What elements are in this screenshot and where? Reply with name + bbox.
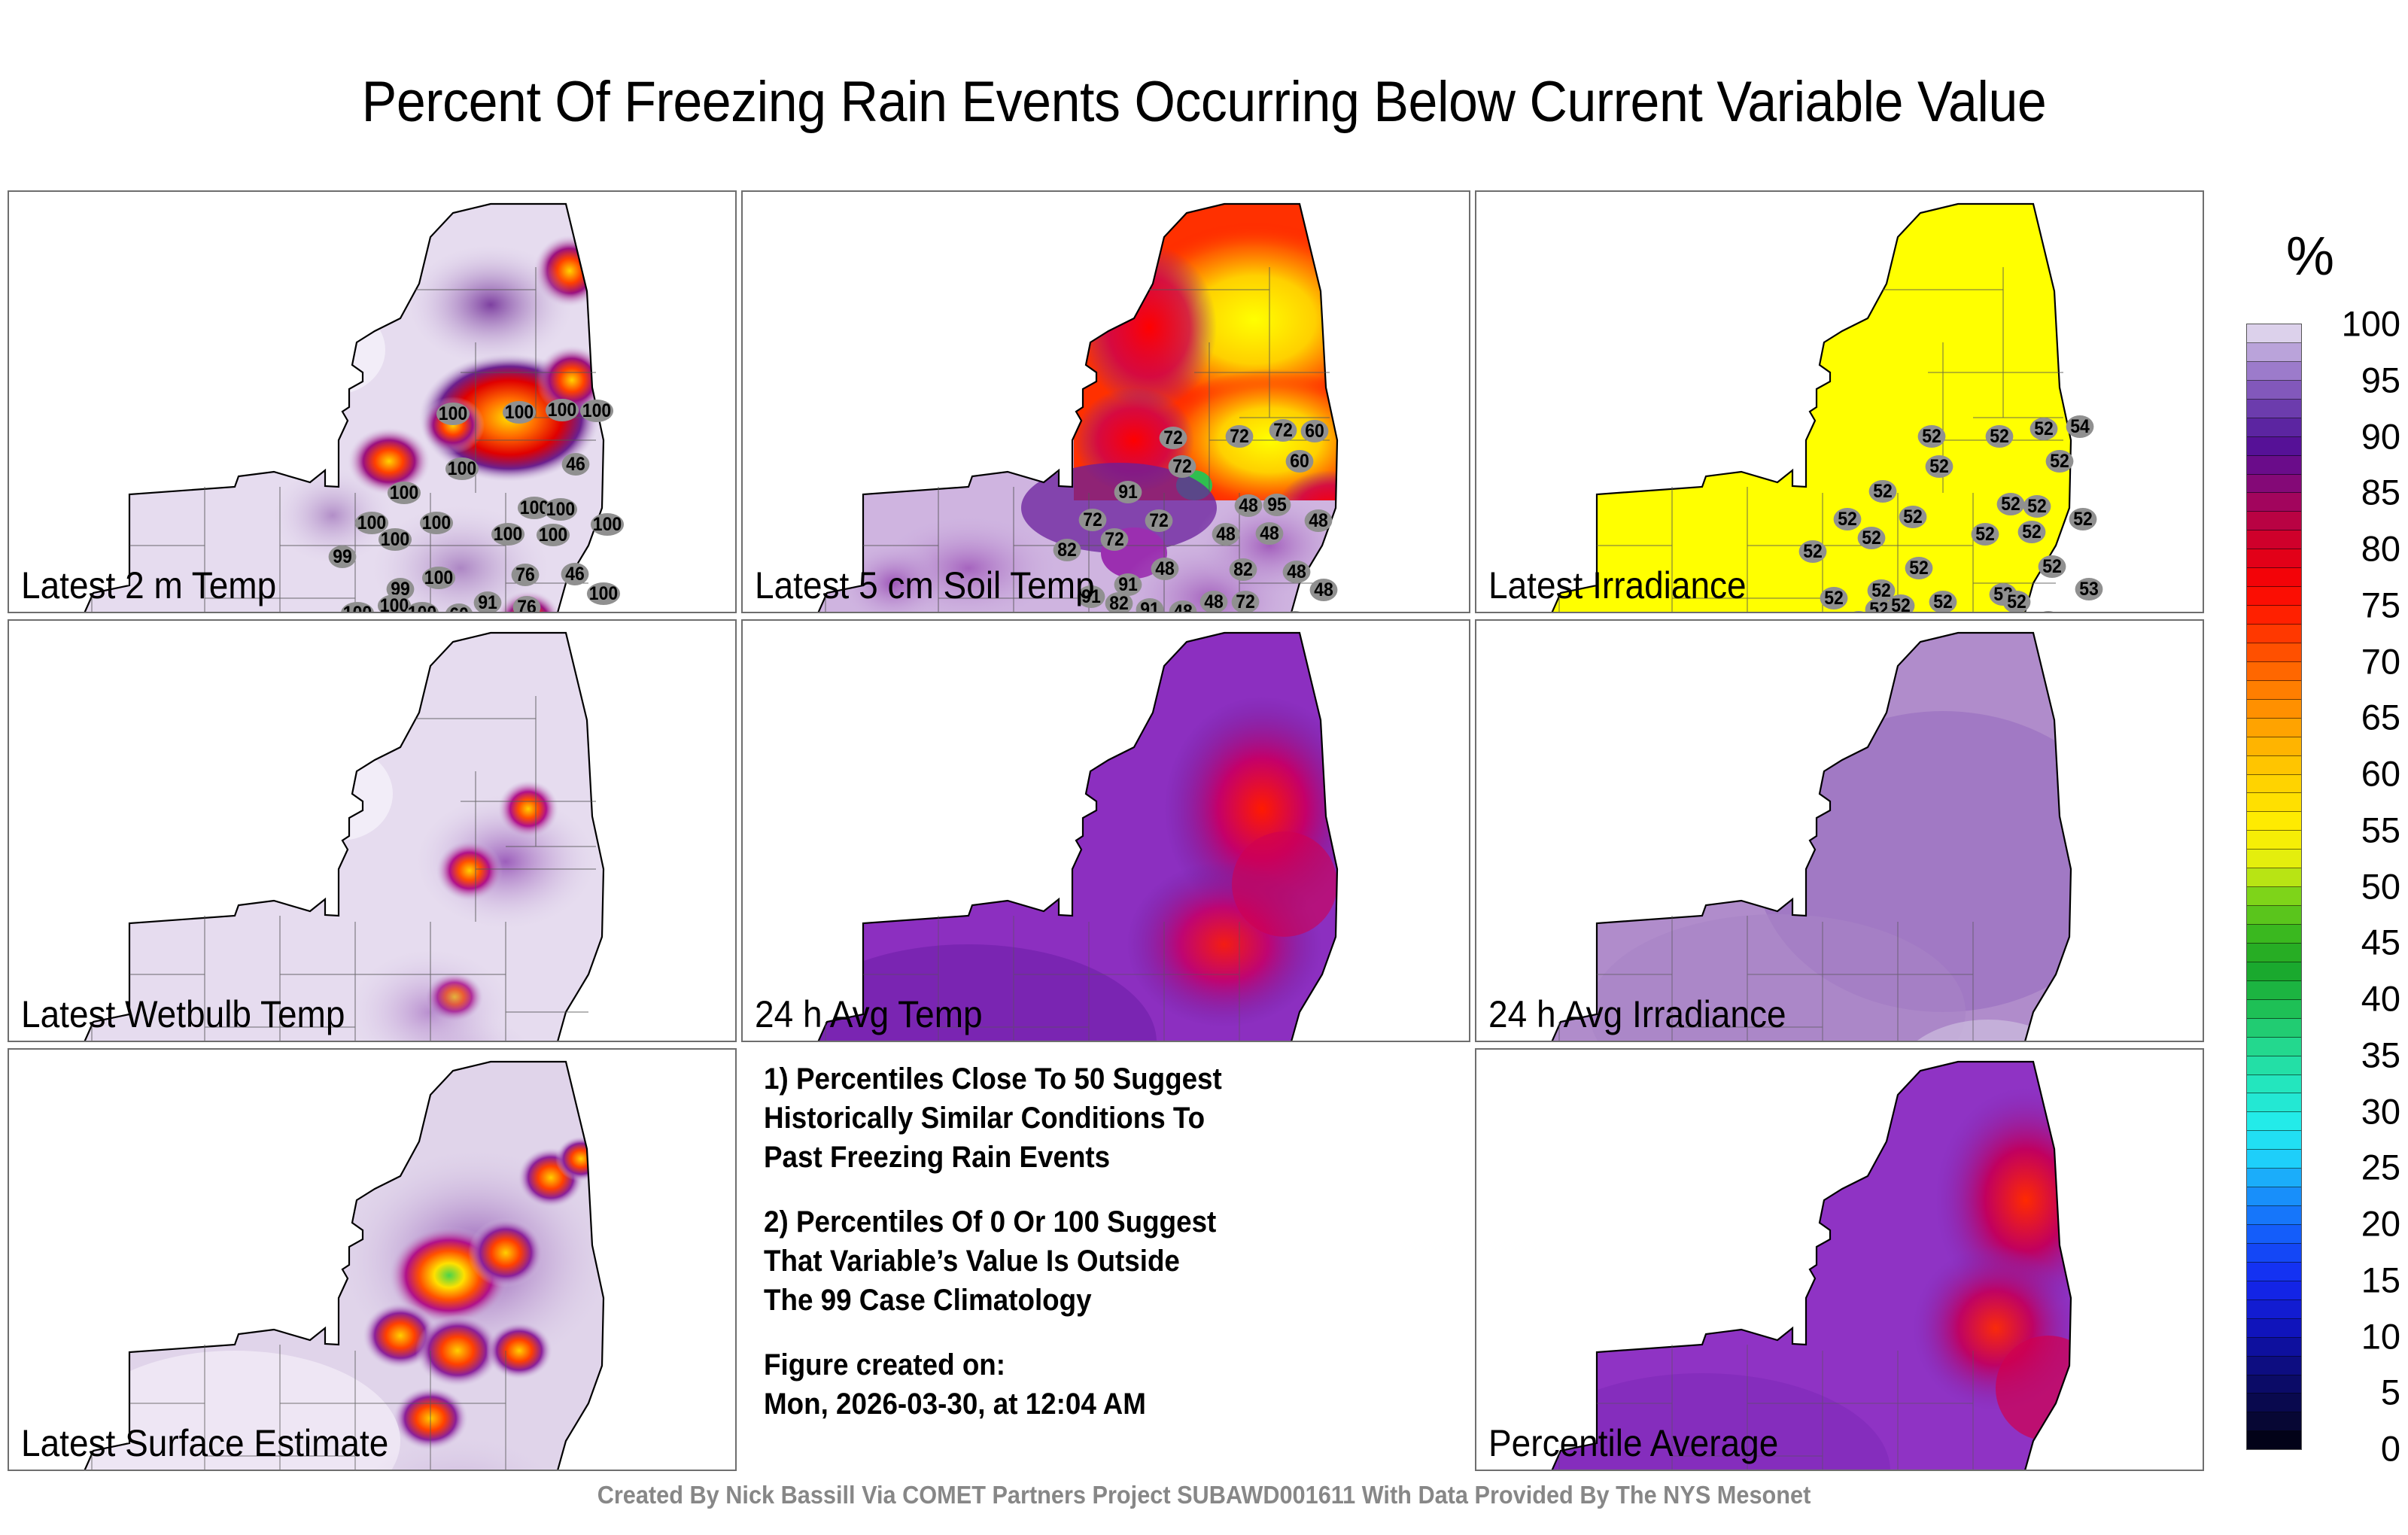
colorbar-segment [2247, 475, 2301, 494]
station-value: 76 [513, 596, 541, 613]
station-value: 52 [2069, 508, 2097, 530]
colorbar-tick-label: 40 [2306, 978, 2400, 1020]
colorbar-tick-label: 80 [2306, 528, 2400, 570]
colorbar-segment [2247, 1112, 2301, 1131]
note-line-5: That Variable’s Value Is Outside [764, 1242, 1443, 1281]
colorbar-segment [2247, 1412, 2301, 1431]
station-value: 72 [1079, 509, 1107, 531]
panel-label: Percentile Average [1488, 1421, 1778, 1465]
colorbar-segment [2247, 343, 2301, 362]
colorbar-segment [2247, 906, 2301, 925]
station-value: 52 [2046, 450, 2074, 473]
station-value: 52 [2039, 555, 2066, 578]
station-value: 52 [1834, 508, 1862, 530]
colorbar-tick-label: 15 [2306, 1259, 2400, 1300]
colorbar-segment [2247, 1187, 2301, 1206]
panel-label: Latest 5 cm Soil Temp [755, 564, 1095, 607]
colorbar-segment [2247, 587, 2301, 606]
panel-label: Latest Surface Estimate [21, 1421, 388, 1465]
colorbar-tick-label: 25 [2306, 1147, 2400, 1188]
colorbar-segment [2247, 381, 2301, 400]
colorbar-segment [2247, 1319, 2301, 1338]
station-value: 52 [1918, 425, 1946, 448]
station-value: 100 [537, 524, 570, 546]
station-value: 72 [1232, 591, 1260, 613]
station-value: 91 [474, 591, 502, 613]
station-value: 52 [1986, 425, 2014, 448]
station-value: 72 [1101, 528, 1129, 551]
station-value: 91 [1136, 598, 1164, 613]
station-value: 82 [1105, 592, 1133, 613]
station-value: 52 [1926, 455, 1953, 478]
colorbar-segment [2247, 568, 2301, 587]
station-value: 60 [1286, 450, 1314, 473]
station-value: 52 [1820, 587, 1848, 609]
colorbar-segment [2247, 324, 2301, 343]
colorbar: 1009590858075706560555045403530252015105… [2246, 324, 2408, 1448]
colorbar-segment [2247, 606, 2301, 625]
colorbar-segment [2247, 1244, 2301, 1263]
station-value: 52 [1929, 591, 1957, 613]
colorbar-tick-label: 100 [2306, 303, 2400, 345]
colorbar-segment [2247, 456, 2301, 475]
station-value: 52 [1899, 506, 1927, 528]
station-value: 100 [379, 528, 412, 551]
colorbar-tick-label: 55 [2306, 809, 2400, 850]
station-value: 72 [1145, 509, 1173, 532]
panel-24h-avg-temp[interactable]: 88 84 90 65 81 78 78 84 88 65 75 78 90 9… [741, 619, 1470, 1042]
note-line-6: The 99 Case Climatology [764, 1281, 1443, 1320]
colorbar-tick-label: 30 [2306, 1090, 2400, 1132]
colorbar-segment [2247, 719, 2301, 737]
panel-latest-surface-estimate[interactable]: 83 98 69 29 83 100 98 94 69 94 100 62 99… [8, 1048, 737, 1471]
panel-label: Latest Irradiance [1488, 564, 1747, 607]
colorbar-segment [2247, 1075, 2301, 1094]
station-value: 52 [1887, 594, 1915, 613]
colorbar-segment [2247, 1131, 2301, 1150]
credit-line: Created By Nick Bassill Via COMET Partne… [84, 1481, 2324, 1509]
station-value: 46 [562, 453, 590, 476]
panel-label: Latest Wetbulb Temp [21, 992, 345, 1036]
colorbar-segment [2247, 868, 2301, 887]
station-value: 54 [2066, 415, 2094, 438]
colorbar-segment [2247, 549, 2301, 568]
station-value: 100 [422, 567, 455, 589]
colorbar-segment [2247, 1019, 2301, 1038]
colorbar-segment [2247, 530, 2301, 549]
colorbar-tick-label: 45 [2306, 922, 2400, 963]
colorbar-segment [2247, 1169, 2301, 1187]
station-value: 91 [1114, 481, 1142, 503]
colorbar-segment [2247, 812, 2301, 831]
station-value: 100 [544, 498, 577, 521]
colorbar-segment [2247, 1357, 2301, 1375]
note-line-4: 2) Percentiles Of 0 Or 100 Suggest [764, 1202, 1443, 1242]
station-value: 100 [341, 602, 374, 613]
colorbar-segment [2247, 793, 2301, 812]
station-value: 52 [2018, 521, 2046, 543]
colorbar-tick-label: 95 [2306, 359, 2400, 400]
station-value: 48 [1310, 579, 1338, 601]
colorbar-tick-label: 50 [2306, 865, 2400, 907]
station-value: 76 [512, 564, 540, 586]
colorbar-segment [2247, 1056, 2301, 1075]
colorbar-segment [2247, 850, 2301, 868]
colorbar-tick-label: 85 [2306, 472, 2400, 513]
station-value: 99 [329, 546, 357, 568]
colorbar-segment [2247, 1000, 2301, 1019]
station-value: 53 [2075, 578, 2103, 600]
station-value: 48 [1256, 522, 1284, 545]
station-value: 82 [1053, 539, 1081, 561]
colorbar-segment [2247, 625, 2301, 643]
panel-label: 24 h Avg Temp [755, 992, 983, 1036]
station-value: 48 [1169, 600, 1197, 613]
station-value: 82 [1230, 558, 1257, 581]
station-value: 100 [388, 482, 421, 504]
station-value: 100 [406, 602, 439, 613]
colorbar-segment [2247, 493, 2301, 512]
station-value: 100 [503, 401, 536, 424]
colorbar-segment [2247, 1394, 2301, 1412]
note-line-1: 1) Percentiles Close To 50 Suggest [764, 1059, 1443, 1099]
colorbar-tick-label: 65 [2306, 697, 2400, 738]
station-value: 100 [546, 399, 579, 421]
colorbar-tick-label: 5 [2306, 1372, 2400, 1413]
colorbar-segment [2247, 362, 2301, 381]
panel-label: 24 h Avg Irradiance [1488, 992, 1786, 1036]
colorbar-segment [2247, 643, 2301, 662]
station-value: 60 [1301, 420, 1329, 442]
map-latest-surface-estimate [9, 1050, 735, 1470]
colorbar-segment [2247, 1338, 2301, 1357]
station-value: 48 [1151, 558, 1179, 580]
note-line-7: Figure created on: [764, 1345, 1443, 1385]
map-24h-avg-irradiance [1476, 621, 2203, 1041]
colorbar-segment [2247, 400, 2301, 418]
station-value: 100 [580, 400, 613, 422]
station-value: 100 [445, 457, 479, 480]
page-title: Percent Of Freezing Rain Events Occurrin… [96, 69, 2312, 135]
colorbar-segment [2247, 981, 2301, 1000]
panel-percentile-average[interactable]: 87 86 79 57 86 87 87 86 79 82 81 75 79 7… [1475, 1048, 2204, 1471]
note-line-8: Mon, 2026-03-30, at 12:04 AM [764, 1385, 1443, 1424]
colorbar-segment [2247, 1431, 2301, 1449]
colorbar-tick-label: 0 [2306, 1428, 2400, 1470]
colorbar-segment [2247, 831, 2301, 850]
panel-latest-irradiance[interactable]: 52 52 52 54 52 52 52 52 52 52 52 52 52 5… [1475, 190, 2204, 613]
panel-24h-avg-irradiance[interactable]: 95 94 92 92 98 94 98 93 92 100 94 95 93 … [1475, 619, 2204, 1042]
station-value: 72 [1226, 425, 1254, 448]
station-value: 48 [1283, 561, 1311, 583]
colorbar-segment [2247, 756, 2301, 775]
colorbar-tick-label: 70 [2306, 640, 2400, 682]
station-value: 72 [1169, 455, 1196, 478]
colorbar-segment [2247, 887, 2301, 906]
colorbar-segment [2247, 437, 2301, 456]
colorbar-tick-label: 10 [2306, 1315, 2400, 1357]
colorbar-segment [2247, 1225, 2301, 1244]
colorbar-segment [2247, 1206, 2301, 1225]
panel-latest-wetbulb-temp[interactable]: 100 100 100 100 100 54 100 100 88 88 100… [8, 619, 737, 1042]
station-value: 100 [591, 513, 624, 536]
map-24h-avg-temp [743, 621, 1469, 1041]
station-value: 52 [1858, 527, 1886, 549]
map-percentile-average [1476, 1050, 2203, 1470]
station-value: 100 [420, 512, 453, 534]
colorbar-tick-label: 75 [2306, 584, 2400, 625]
station-value: 48 [1200, 591, 1228, 613]
colorbar-segment [2247, 700, 2301, 719]
station-value: 100 [587, 582, 620, 605]
station-value: 52 [1997, 493, 2025, 515]
colorbar-unit-label: % [2246, 226, 2374, 287]
station-value: 52 [1972, 523, 1999, 546]
colorbar-segment [2247, 775, 2301, 794]
colorbar-segment [2247, 1263, 2301, 1281]
station-value: 48 [1235, 494, 1263, 517]
note-line-3: Past Freezing Rain Events [764, 1138, 1443, 1177]
notes-block: 1) Percentiles Close To 50 Suggest Histo… [764, 1059, 1443, 1424]
colorbar-segment [2247, 944, 2301, 962]
station-value: 48 [1282, 611, 1309, 613]
colorbar-segment [2247, 418, 2301, 437]
colorbar-tick-label: 60 [2306, 753, 2400, 795]
colorbar-tick-label: 90 [2306, 415, 2400, 457]
station-value: 52 [2023, 495, 2051, 518]
map-latest-2m-temp [9, 192, 735, 612]
map-latest-wetbulb-temp [9, 621, 735, 1041]
station-value: 72 [1160, 427, 1187, 449]
colorbar-segment [2247, 512, 2301, 530]
map-latest-irradiance [1476, 192, 2203, 612]
station-value: 46 [561, 563, 589, 585]
note-line-2: Historically Similar Conditions To [764, 1099, 1443, 1138]
colorbar-segment [2247, 662, 2301, 681]
panel-label: Latest 2 m Temp [21, 564, 276, 607]
colorbar-segment [2247, 1300, 2301, 1319]
colorbar-segment [2247, 1375, 2301, 1394]
colorbar-segment [2247, 1093, 2301, 1112]
station-value: 100 [491, 523, 524, 546]
colorbar-segment [2247, 1150, 2301, 1169]
station-value: 48 [1212, 523, 1240, 546]
colorbar-tick-label: 35 [2306, 1034, 2400, 1075]
colorbar-tick-label: 20 [2306, 1203, 2400, 1245]
panel-latest-5cm-soil-temp[interactable]: 72 72 72 60 72 60 91 48 95 48 72 72 72 4… [741, 190, 1470, 613]
colorbar-segment [2247, 962, 2301, 981]
station-value: 100 [436, 403, 470, 425]
station-value: 52 [1905, 557, 1933, 579]
station-value: 52 [2003, 591, 2031, 613]
station-value: 95 [1263, 494, 1291, 516]
station-value: 52 [1799, 540, 1827, 563]
figure-root: Percent Of Freezing Rain Events Occurrin… [0, 0, 2408, 1535]
station-value: 52 [2030, 418, 2058, 440]
panel-latest-2m-temp[interactable]: 100 100 100 100 46 100 100 100 100 100 1… [8, 190, 737, 613]
colorbar-gradient [2246, 324, 2302, 1450]
station-value: 72 [1269, 419, 1297, 442]
station-value: 52 [1869, 480, 1897, 503]
colorbar-segment [2247, 925, 2301, 944]
colorbar-segment [2247, 681, 2301, 700]
colorbar-segment [2247, 1281, 2301, 1300]
colorbar-segment [2247, 1038, 2301, 1056]
station-value: 48 [1305, 509, 1333, 532]
colorbar-segment [2247, 737, 2301, 756]
